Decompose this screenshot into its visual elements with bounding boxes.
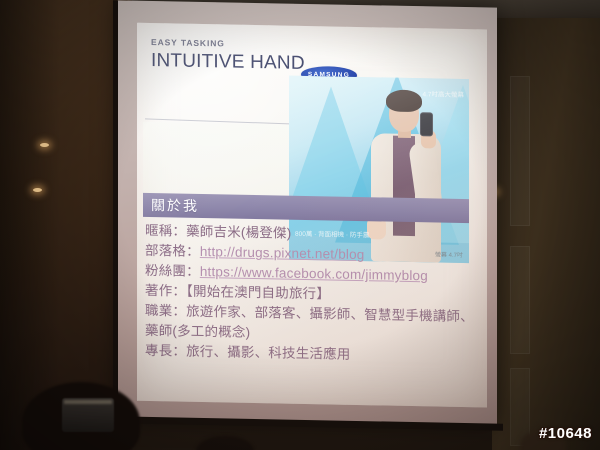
about-line-value: 藥師(多工的概念) — [145, 323, 250, 340]
conference-room-background: EASY TASKING INTUITIVE HAND SAMSUNG — [0, 0, 600, 450]
about-line-value: 藥師吉米(楊登傑) — [186, 224, 291, 241]
about-me-title: 關於我 — [143, 195, 199, 216]
about-line-label: 職業： — [145, 303, 186, 319]
about-line-value: 旅遊作家、部落客、攝影師、智慧型手機講師、 — [186, 304, 474, 325]
smartphone-device — [420, 112, 433, 136]
about-line-link[interactable]: https://www.facebook.com/jimmyblog — [200, 264, 428, 283]
about-line-label: 暱稱： — [145, 223, 186, 239]
about-line-label: 專長： — [145, 343, 186, 359]
right-wall — [492, 18, 600, 450]
about-line-label: 粉絲團： — [145, 263, 200, 279]
wall-panel-middle — [510, 246, 530, 354]
foreground-device-glint — [64, 400, 112, 404]
about-line-value: 【開始在澳門自助旅行】 — [186, 284, 330, 302]
about-line-value: 旅行、攝影、科技生活應用 — [186, 344, 350, 362]
about-me-text-block: 暱稱：藥師吉米(楊登傑)部落格：http://drugs.pixnet.net/… — [145, 221, 481, 367]
wall-panel-top — [510, 76, 530, 226]
about-line-label: 部落格： — [145, 243, 200, 259]
watermark-text: #10648 — [539, 425, 592, 442]
about-line-link[interactable]: http://drugs.pixnet.net/blog — [200, 244, 365, 262]
person-hair — [386, 90, 422, 113]
wall-lamp-upper — [40, 143, 49, 147]
about-line-label: 著作： — [145, 283, 186, 299]
slide-eyebrow-text: EASY TASKING — [151, 37, 381, 51]
left-wall-shadow — [0, 0, 60, 450]
about-me-header-bar: 關於我 — [143, 193, 469, 223]
projected-slide: EASY TASKING INTUITIVE HAND SAMSUNG — [137, 23, 487, 408]
audience-head-silhouette-2 — [196, 436, 254, 450]
screen-left-edge — [113, 0, 118, 418]
screen-bottom-bar — [113, 416, 503, 430]
ad-top-right-label: 4.7吋高大螢幕 — [422, 88, 464, 99]
wall-lamp-lower — [33, 188, 42, 192]
projection-screen: EASY TASKING INTUITIVE HAND SAMSUNG — [117, 0, 497, 425]
